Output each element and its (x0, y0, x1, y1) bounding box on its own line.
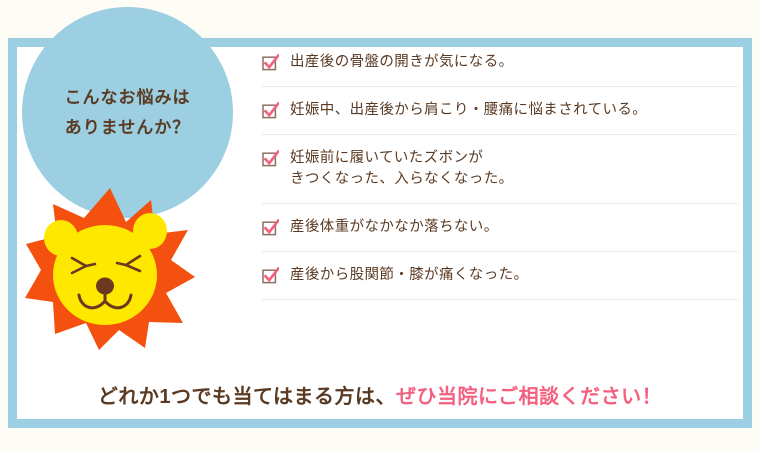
call-to-action: どれか1つでも当てはまる方は、ぜひ当院にご相談ください！ (0, 380, 760, 409)
promo-banner: こんなお悩みは ありませんか？ (0, 0, 760, 450)
lion-mascot-icon (25, 182, 195, 352)
checklist-item-label: 出産後の骨盤の開きが気になる。 (290, 52, 514, 73)
lion-nose (96, 278, 114, 295)
checklist-item-label: 妊娠中、出産後から肩こり・腰痛に悩まされている。 (290, 100, 647, 121)
checkbox-checked-icon (262, 102, 279, 119)
checkbox-checked-icon (262, 219, 279, 236)
checklist-item[interactable]: 産後から股関節・膝が痛くなった。 (262, 252, 738, 300)
cta-lead-text: どれか1つでも当てはまる方は、 (98, 386, 396, 408)
cta-highlight-text: ぜひ当院にご相談ください！ (396, 386, 662, 408)
headline-text: こんなお悩みは ありませんか？ (22, 83, 233, 143)
symptom-checklist: 出産後の骨盤の開きが気になる。 妊娠中、出産後から肩こり・腰痛に悩まされている。… (262, 39, 738, 300)
checkbox-checked-icon (262, 267, 279, 284)
checkbox-checked-icon (262, 150, 279, 167)
checklist-item-label: 産後から股関節・膝が痛くなった。 (290, 265, 528, 286)
checklist-item[interactable]: 産後体重がなかなか落ちない。 (262, 204, 738, 252)
lion-face (53, 225, 157, 325)
checklist-item-label: 妊娠前に履いていたズボンが きつくなった、入らなくなった。 (290, 148, 514, 190)
checklist-item[interactable]: 出産後の骨盤の開きが気になる。 (262, 39, 738, 87)
checklist-item-label: 産後体重がなかなか落ちない。 (290, 217, 499, 238)
checklist-item[interactable]: 妊娠中、出産後から肩こり・腰痛に悩まされている。 (262, 87, 738, 135)
checklist-item[interactable]: 妊娠前に履いていたズボンが きつくなった、入らなくなった。 (262, 135, 738, 204)
checkbox-checked-icon (262, 54, 279, 71)
